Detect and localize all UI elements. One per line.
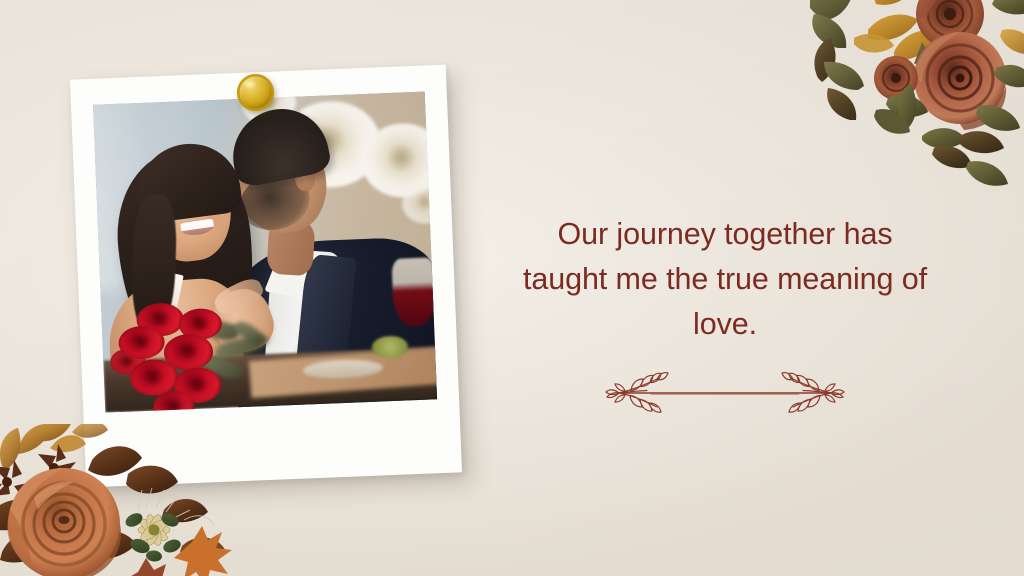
- slide-canvas: Our journey together has taught me the t…: [0, 0, 1024, 576]
- laurel-branch-divider-icon: [591, 370, 859, 416]
- photo-color-grade: [93, 91, 437, 412]
- photograph: [93, 91, 437, 412]
- polaroid-photo-card[interactable]: [70, 65, 462, 488]
- quote-text: Our journey together has taught me the t…: [516, 212, 934, 346]
- quote-block: Our journey together has taught me the t…: [516, 212, 934, 416]
